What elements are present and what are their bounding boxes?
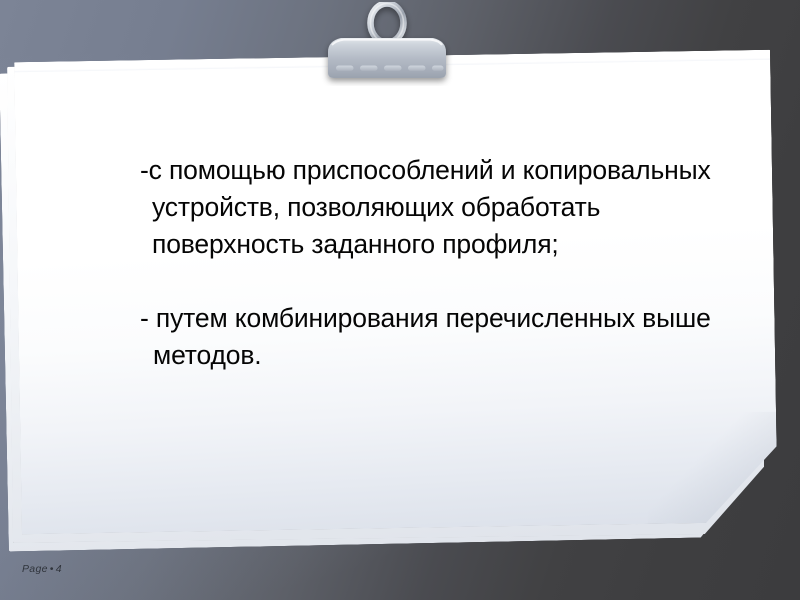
footer-page-label: Page bbox=[22, 563, 48, 575]
slide-footer: Page•4 bbox=[22, 563, 62, 575]
footer-page-number: 4 bbox=[56, 563, 62, 575]
footer-separator: • bbox=[48, 563, 56, 575]
slide-body-text: -с помощью приспособлений и копировальны… bbox=[140, 152, 730, 374]
binder-clip-icon bbox=[308, 2, 476, 86]
body-paragraph-2: - путем комбинирования перечисленных выш… bbox=[140, 300, 730, 374]
body-paragraph-1: -с помощью приспособлений и копировальны… bbox=[140, 152, 730, 263]
slide-canvas: -с помощью приспособлений и копировальны… bbox=[0, 0, 800, 600]
